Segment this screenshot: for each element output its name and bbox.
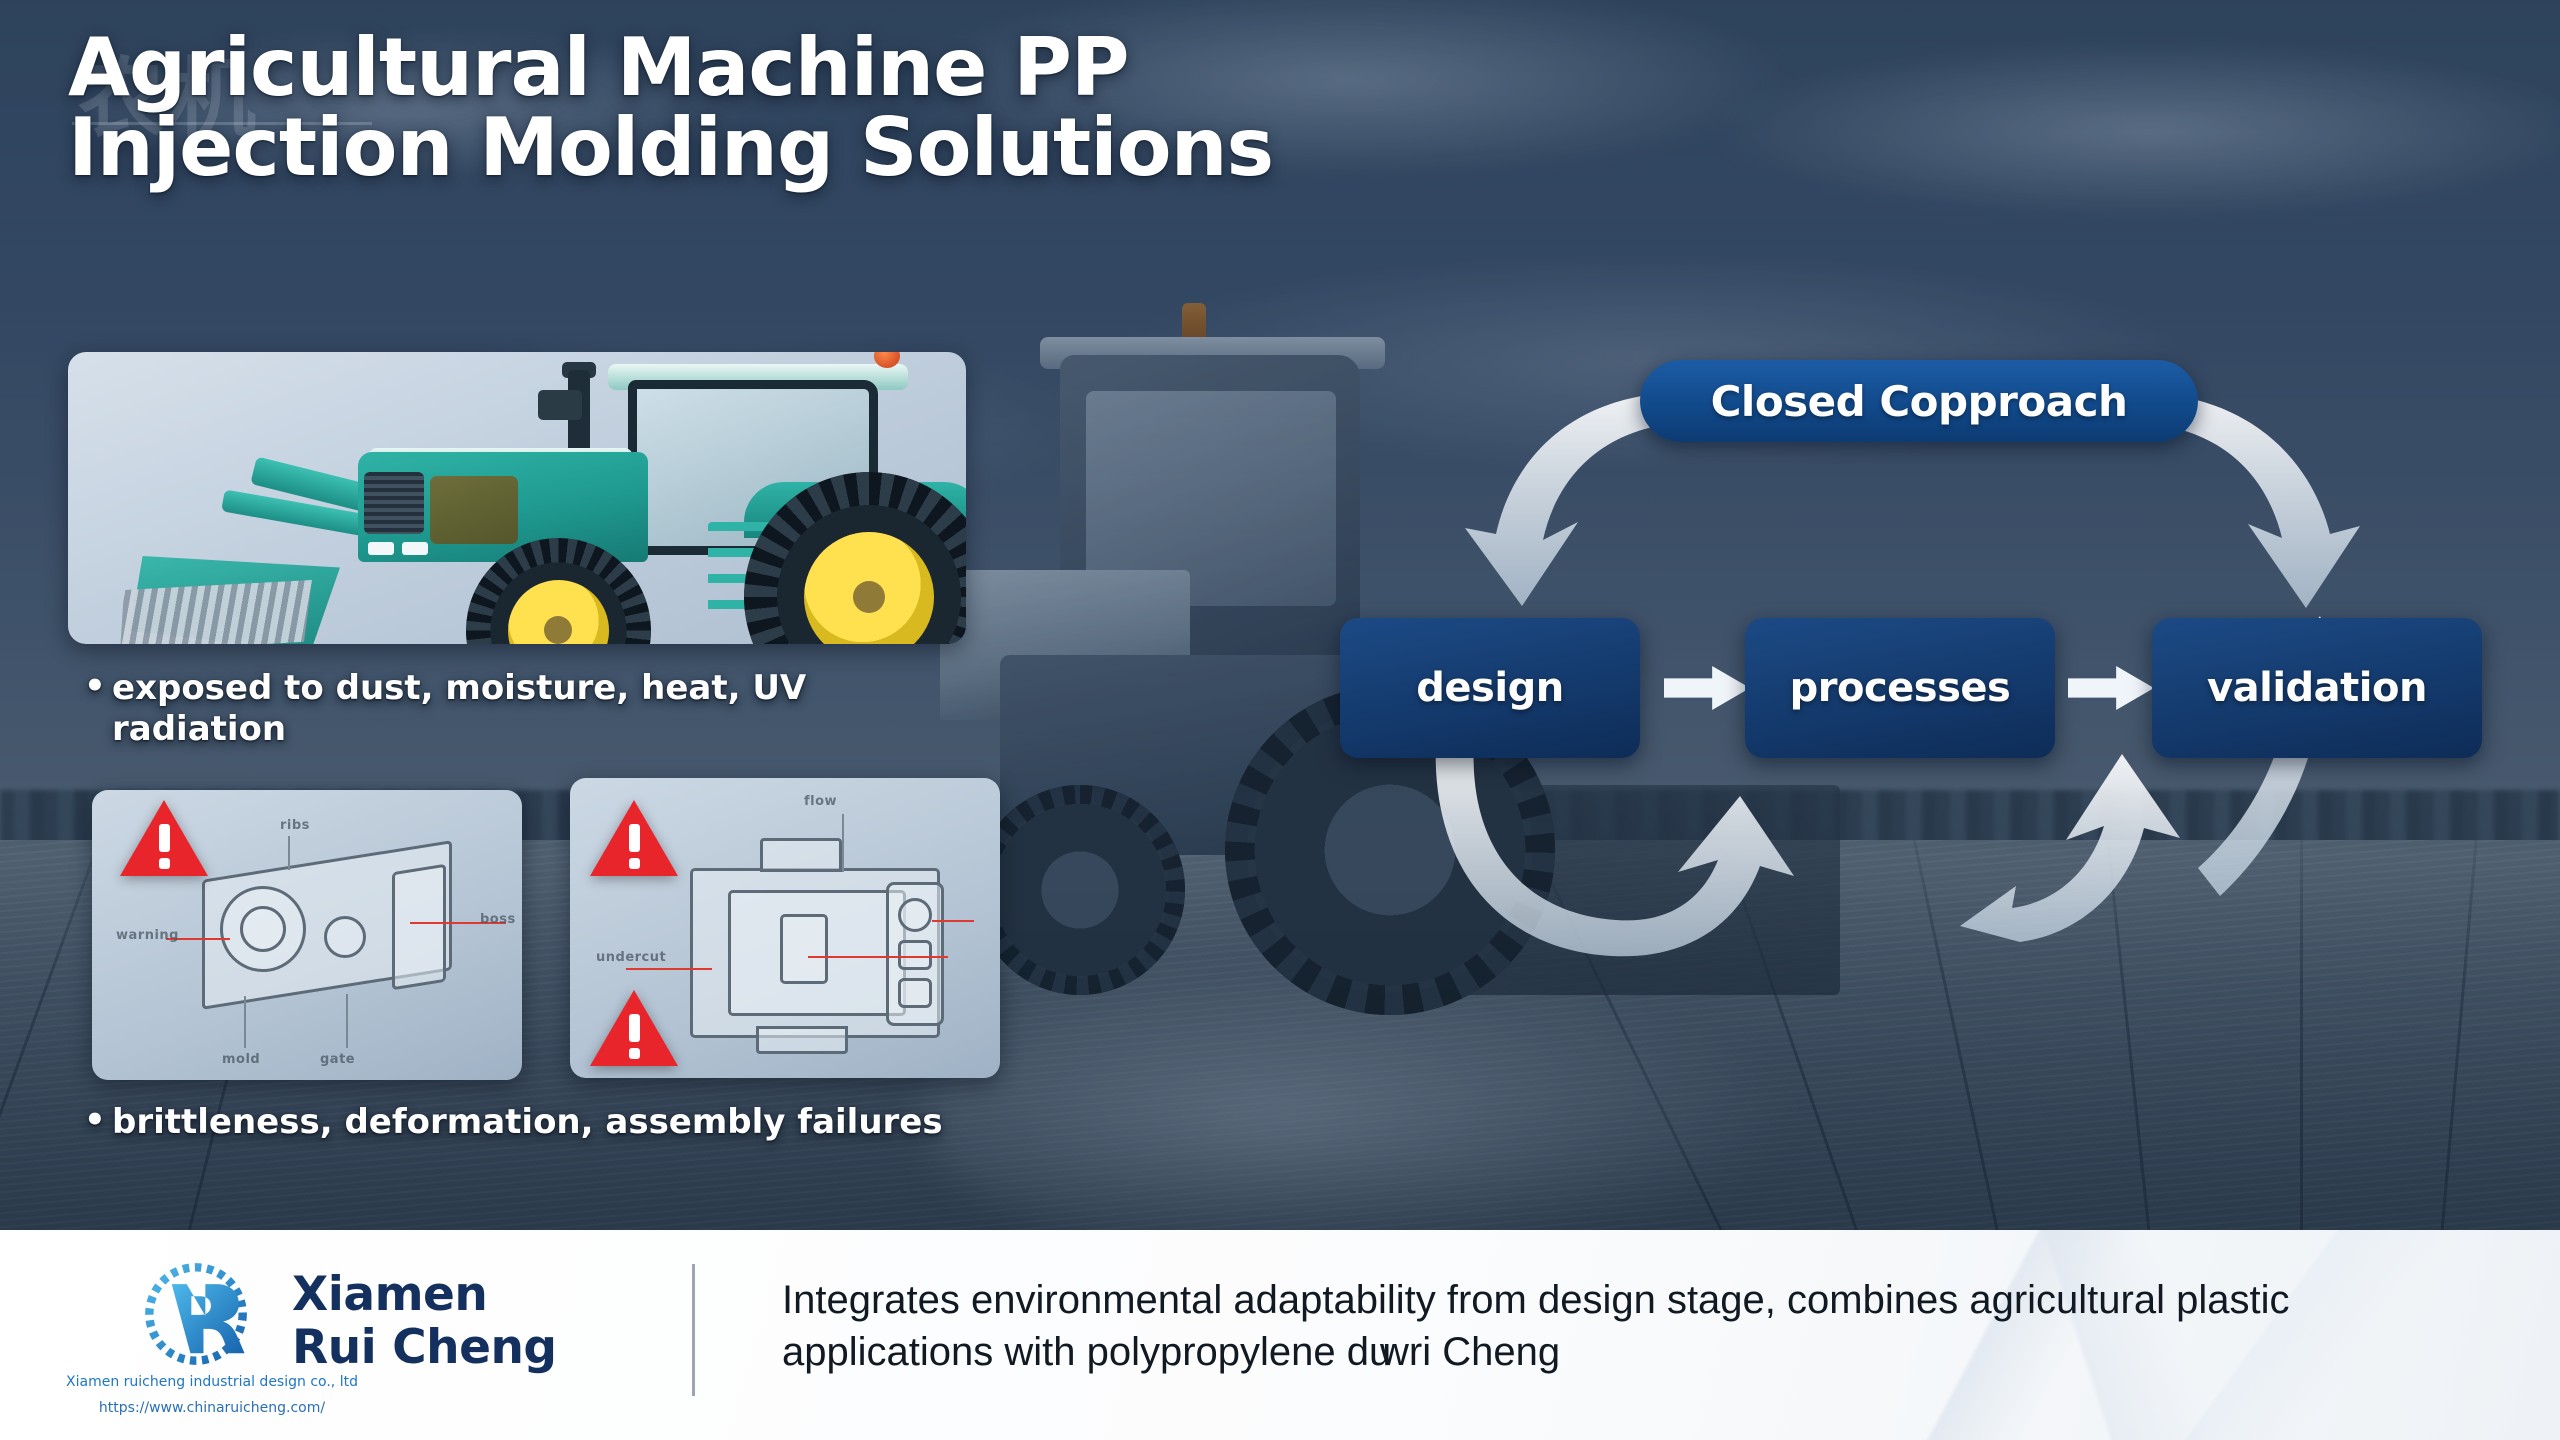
stage-design[interactable]: design <box>1340 618 1640 758</box>
drawing-card-right: undercut flow <box>570 778 1000 1078</box>
page-title-line-1: Agricultural Machine PP <box>68 28 1318 108</box>
stage-validation-label: validation <box>2207 665 2427 711</box>
brand-line-2: Rui Cheng <box>292 1321 557 1374</box>
bullet-environmental-exposure: exposed to dust, moisture, heat, UV radi… <box>112 668 872 750</box>
warning-triangle-icon <box>590 990 678 1066</box>
footer-divider <box>692 1264 695 1396</box>
stage-design-label: design <box>1416 665 1563 711</box>
schematic-label: gate <box>320 1052 355 1067</box>
brand-line-1: Xiamen <box>292 1268 557 1321</box>
stage-validation[interactable]: validation <box>2152 618 2482 758</box>
bullet-failure-modes: brittleness, deformation, assembly failu… <box>112 1102 1012 1143</box>
logo-url[interactable]: https://www.chinaruicheng.com/ <box>52 1400 372 1416</box>
footer-description-line-1: Integrates environmental adaptability fr… <box>782 1274 2482 1326</box>
closed-loop-badge: Closed Copproach <box>1640 360 2198 442</box>
schematic-label: flow <box>804 794 837 809</box>
ruicheng-gear-r-logo <box>140 1258 252 1370</box>
tractor-illustration-card <box>68 352 966 644</box>
page-title-line-2: Injection Molding Solutions <box>68 108 1318 188</box>
closed-loop-badge-label: Closed Copproach <box>1711 377 2128 426</box>
warning-triangle-icon <box>590 800 678 876</box>
footer-description: Integrates environmental adaptability fr… <box>782 1274 2482 1378</box>
schematic-label: boss <box>480 912 516 927</box>
brand-name: Xiamen Rui Cheng <box>292 1268 557 1374</box>
infographic-poster: 农机 Agricultural Machine PP Injection Mol… <box>0 0 2560 1440</box>
drawing-card-left: warning ribs boss mold gate <box>92 790 522 1080</box>
logo-caption: Xiamen ruicheng industrial design co., l… <box>52 1374 372 1390</box>
schematic-label: ribs <box>280 818 310 833</box>
page-title: Agricultural Machine PP Injection Moldin… <box>68 28 1318 188</box>
footer-description-overlay: wri Cheng <box>1380 1326 1560 1378</box>
stage-processes[interactable]: processes <box>1745 618 2055 758</box>
footer-description-line-2: applications with polypropylene du <box>782 1326 2482 1378</box>
warning-triangle-icon <box>120 800 208 876</box>
schematic-label: undercut <box>596 950 666 965</box>
footer-bar: Xiamen ruicheng industrial design co., l… <box>0 1230 2560 1440</box>
schematic-label: mold <box>222 1052 260 1067</box>
schematic-label: warning <box>116 928 179 943</box>
stage-processes-label: processes <box>1790 665 2011 711</box>
